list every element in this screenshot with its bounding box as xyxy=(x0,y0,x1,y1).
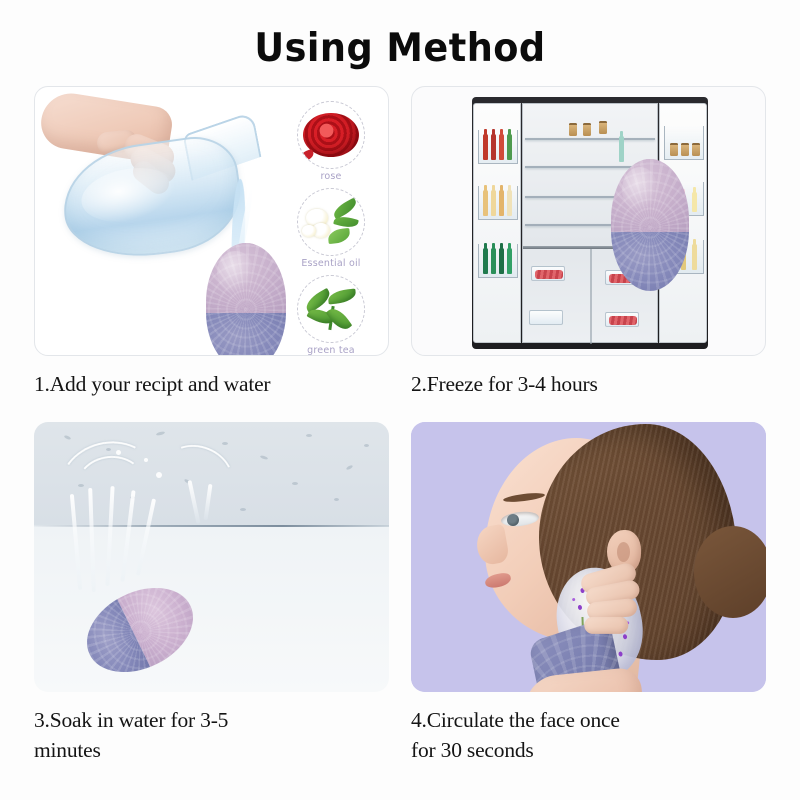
freezer-divider-vertical xyxy=(590,249,592,344)
ingredient-label: green tea xyxy=(307,345,355,356)
fridge-bottle xyxy=(491,134,496,160)
fridge-door-left xyxy=(473,103,521,343)
step-3-image xyxy=(34,422,389,692)
lavender-floret xyxy=(618,651,623,657)
oil-leaf xyxy=(327,228,350,244)
fridge-bottle xyxy=(499,134,504,160)
hair-bun xyxy=(694,526,766,618)
step-4-image xyxy=(411,422,766,692)
fridge-bottle xyxy=(507,134,512,160)
rose-leaf xyxy=(299,149,315,163)
fridge-jar xyxy=(583,123,591,136)
step-caption-1: 1.Add your recipt and water xyxy=(34,369,389,399)
using-method-infographic: Using Method xyxy=(0,0,800,800)
splash-bubble xyxy=(116,450,121,455)
fridge-bottle xyxy=(483,190,488,216)
page-title: Using Method xyxy=(24,26,776,71)
fridge-door-bin xyxy=(478,130,518,164)
droplet xyxy=(334,498,339,501)
step-caption-4: 4.Circulate the face once for 30 seconds xyxy=(411,705,766,765)
ingredient-item-essential-oil: Essential oil xyxy=(297,188,365,269)
ingredient-item-green-tea: green tea xyxy=(297,275,365,356)
droplet xyxy=(156,431,165,436)
meat-icon xyxy=(535,270,563,279)
ice-roller-device xyxy=(206,243,286,356)
pupil xyxy=(507,514,519,526)
fridge-bottle xyxy=(491,248,496,274)
fridge-jar xyxy=(681,143,689,156)
ingredient-label: rose xyxy=(320,171,341,182)
oil-flower xyxy=(302,225,316,237)
device-highlight xyxy=(217,251,254,295)
fridge-bottle xyxy=(483,248,488,274)
fridge-door-bin xyxy=(664,126,704,160)
fridge-bottle xyxy=(499,248,504,274)
splash-streak xyxy=(136,498,156,575)
ice-roller-device xyxy=(611,159,689,291)
meat-icon xyxy=(609,316,637,325)
fridge-shelf xyxy=(525,138,655,140)
refrigerator-icon xyxy=(472,97,708,349)
fridge-bottle xyxy=(692,244,697,270)
step-card-1: rose Essential oil xyxy=(34,86,389,399)
fridge-bottle xyxy=(499,190,504,216)
fridge-bottle xyxy=(507,248,512,274)
fridge-food-tray xyxy=(531,266,565,281)
fridge-jar xyxy=(670,143,678,156)
water-splash-secondary xyxy=(162,446,252,536)
essential-oil-icon xyxy=(297,188,365,256)
step-card-4: 4.Circulate the face once for 30 seconds xyxy=(411,422,766,765)
ingredient-item-rose: rose xyxy=(297,101,365,182)
step-card-3: 3.Soak in water for 3-5 minutes xyxy=(34,422,389,765)
fridge-door-bin xyxy=(478,244,518,278)
fridge-jar xyxy=(569,123,577,136)
fridge-door-bin xyxy=(478,186,518,220)
droplet xyxy=(346,465,354,471)
splash-bubble xyxy=(144,458,148,462)
droplet xyxy=(292,482,298,485)
tea-leaf xyxy=(327,289,356,305)
lavender-floret xyxy=(572,598,576,602)
fridge-food-tray xyxy=(605,312,639,327)
pour-water-scene: rose Essential oil xyxy=(35,87,388,355)
splash-arc xyxy=(154,435,242,516)
step-card-2: 2.Freeze for 3-4 hours xyxy=(411,86,766,399)
fridge-bottle xyxy=(483,134,488,160)
fridge-bottle xyxy=(692,192,697,212)
fridge-bottle xyxy=(491,190,496,216)
droplet xyxy=(306,434,312,437)
step-caption-2: 2.Freeze for 3-4 hours xyxy=(411,369,766,399)
ingredient-list: rose Essential oil xyxy=(282,101,380,356)
steps-grid: rose Essential oil xyxy=(34,86,766,776)
droplet xyxy=(260,455,269,460)
device-highlight xyxy=(622,167,658,212)
rose-icon xyxy=(297,101,365,169)
lavender-floret xyxy=(623,634,628,640)
finger-icon xyxy=(584,617,628,634)
ingredient-label: Essential oil xyxy=(301,258,360,269)
fridge-bottle xyxy=(507,190,512,216)
fridge-jar xyxy=(692,143,700,156)
fridge-jar xyxy=(599,121,607,134)
step-caption-3: 3.Soak in water for 3-5 minutes xyxy=(34,705,389,765)
droplet xyxy=(64,435,72,441)
green-tea-icon xyxy=(297,275,365,343)
lavender-floret xyxy=(577,605,582,611)
fridge-food-tray xyxy=(529,310,563,325)
step-1-image: rose Essential oil xyxy=(34,86,389,356)
step-2-image xyxy=(411,86,766,356)
droplet xyxy=(222,442,228,445)
droplet xyxy=(364,444,369,447)
